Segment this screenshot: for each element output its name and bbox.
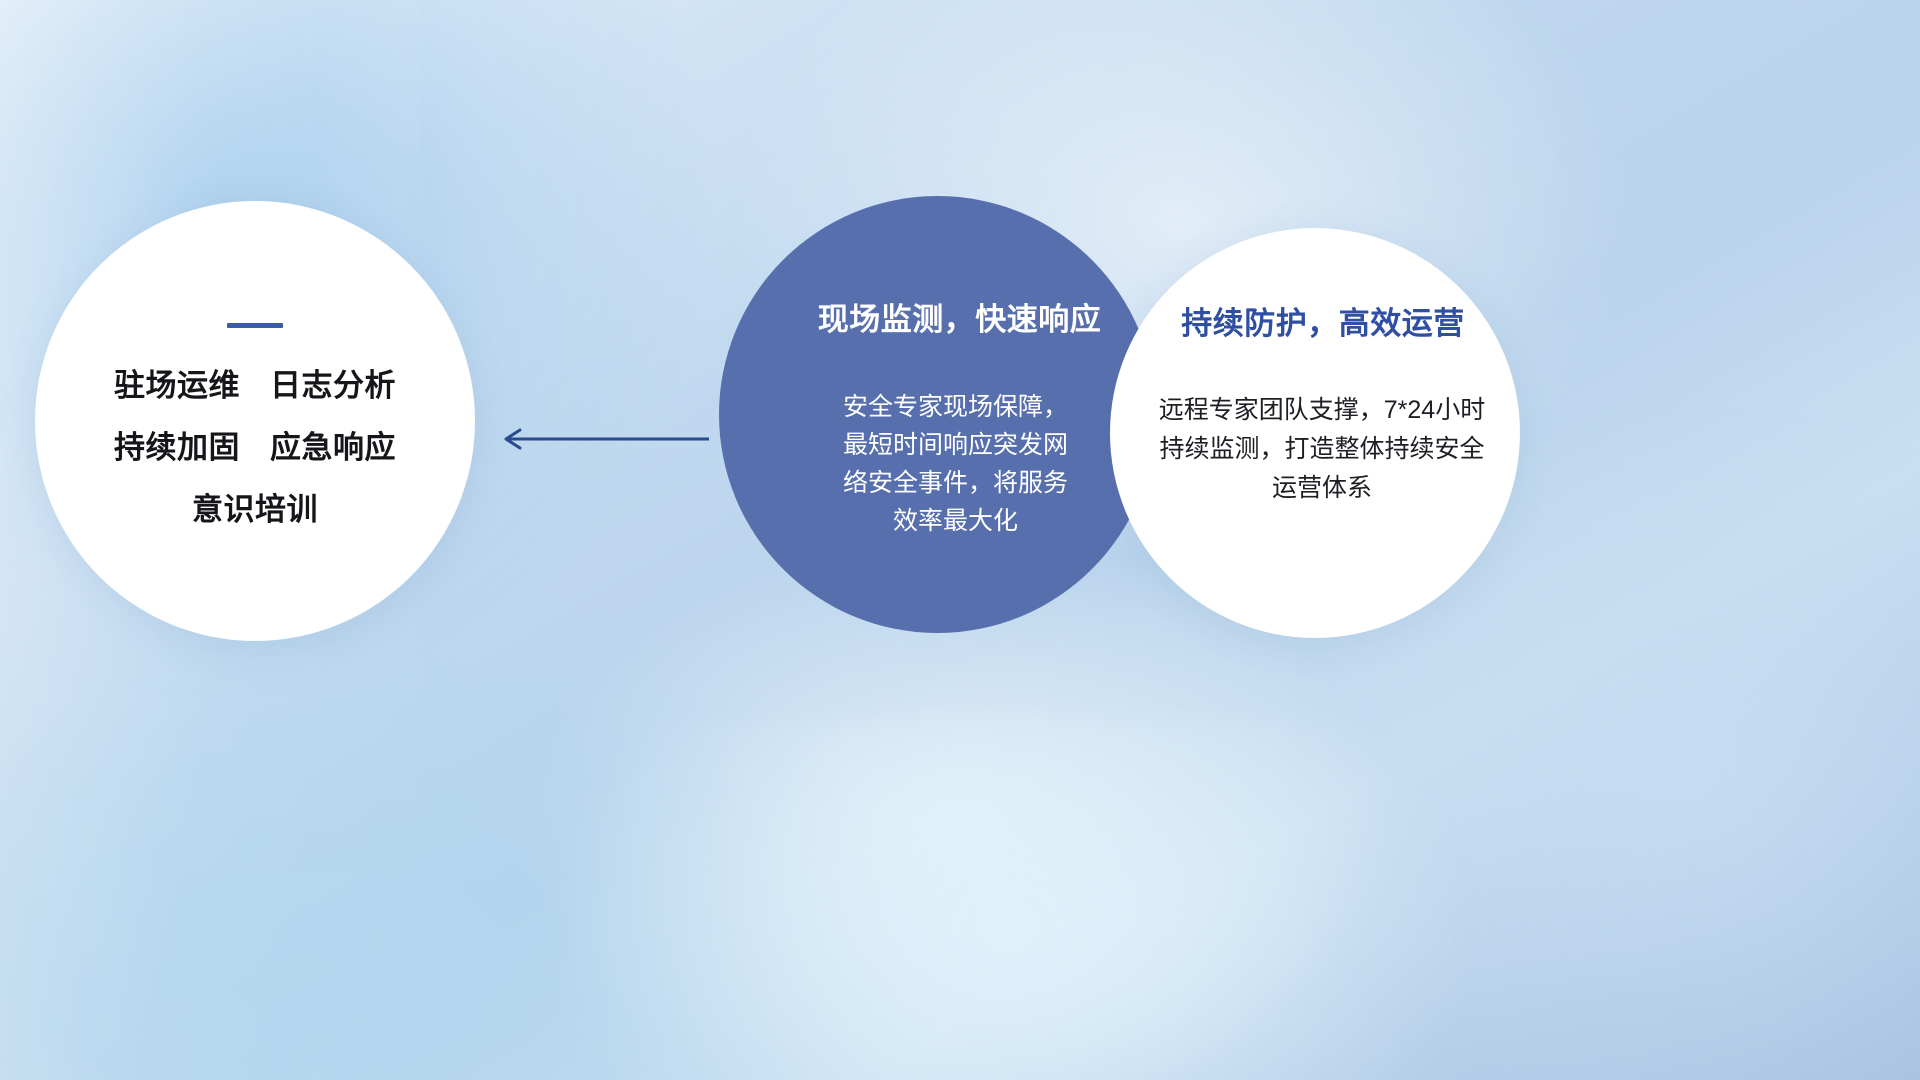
service-tag: 持续加固 <box>114 432 240 463</box>
middle-circle-body: 安全专家现场保障，最短时间响应突发网络安全事件，将服务效率最大化 <box>799 388 1077 540</box>
service-tag: 驻场运维 <box>114 370 240 401</box>
middle-circle-title: 现场监测，快速响应 <box>774 294 1102 339</box>
flow-arrow-icon <box>494 424 710 454</box>
right-circle-body: 远程专家团队支撑，7*24小时持续监测，打造整体持续安全运营体系 <box>1135 391 1495 507</box>
list-row: 意识培训 <box>114 494 396 525</box>
middle-circle-card: 现场监测，快速响应 安全专家现场保障，最短时间响应突发网络安全事件，将服务效率最… <box>719 196 1156 633</box>
right-circle-title: 持续防护，高效运营 <box>1165 298 1465 343</box>
divider-dash <box>227 323 283 328</box>
left-circle-service-list: 驻场运维 日志分析 持续加固 应急响应 意识培训 <box>114 370 396 525</box>
list-row: 驻场运维 日志分析 <box>114 370 396 401</box>
service-tag: 意识培训 <box>192 494 318 525</box>
left-circle-card: 驻场运维 日志分析 持续加固 应急响应 意识培训 <box>35 201 475 641</box>
list-row: 持续加固 应急响应 <box>114 432 396 463</box>
service-tag: 日志分析 <box>270 370 396 401</box>
service-tag: 应急响应 <box>270 432 396 463</box>
slide-canvas: 驻场运维 日志分析 持续加固 应急响应 意识培训 现场监测，快速响应 安全专家现… <box>0 0 1920 1080</box>
right-circle-card: 持续防护，高效运营 远程专家团队支撑，7*24小时持续监测，打造整体持续安全运营… <box>1110 228 1520 638</box>
